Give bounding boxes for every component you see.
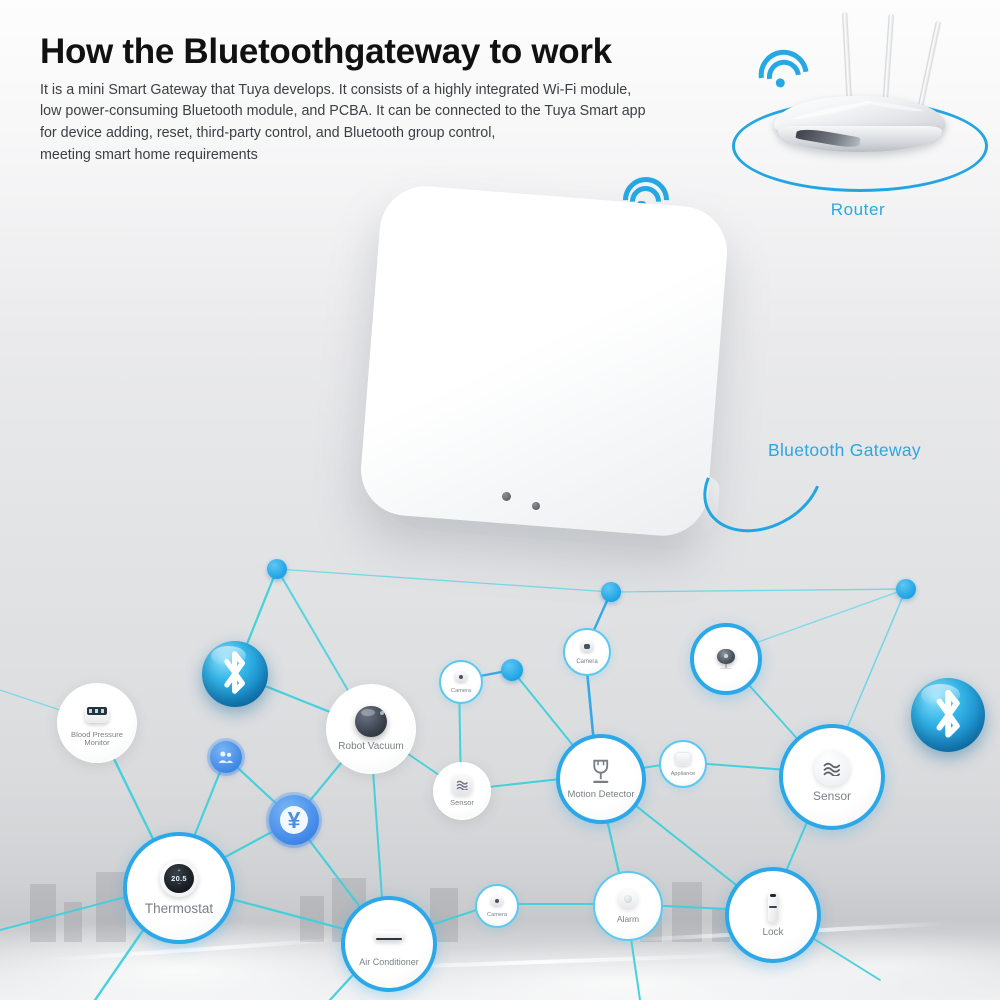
robot-vacuum-icon bbox=[355, 706, 387, 738]
device-node-lock[interactable]: Lock bbox=[725, 867, 821, 963]
device-node-label: Camera bbox=[487, 912, 507, 918]
group-badge[interactable] bbox=[210, 741, 242, 773]
sensor-flow-icon bbox=[452, 775, 472, 795]
camera-icon bbox=[579, 639, 595, 655]
device-node-label: Sensor bbox=[813, 790, 851, 803]
air-conditioner-icon bbox=[373, 921, 405, 953]
device-node-label: Motion Detector bbox=[567, 790, 634, 801]
device-node-camera[interactable]: Camera bbox=[475, 884, 519, 928]
device-node-air-conditioner[interactable]: Air Conditioner bbox=[341, 896, 437, 992]
device-node-blood-pressure-monitor[interactable]: Blood PressureMonitor bbox=[57, 683, 137, 763]
device-node-label: Air Conditioner bbox=[359, 957, 419, 967]
device-node-label: Alarm bbox=[617, 915, 639, 925]
device-node-label: Camera bbox=[451, 688, 471, 694]
device-node-fan[interactable] bbox=[690, 623, 762, 695]
device-node-sensor[interactable]: Sensor bbox=[433, 762, 491, 820]
device-node-appliance[interactable]: Appliance bbox=[659, 740, 707, 788]
infographic-canvas: How the Bluetoothgateway to work It is a… bbox=[0, 0, 1000, 1000]
network-connector-dot bbox=[267, 559, 287, 579]
appliance-icon bbox=[675, 751, 691, 767]
network-connector-dot bbox=[601, 582, 621, 602]
people-icon bbox=[217, 749, 235, 765]
bluetooth-icon bbox=[214, 646, 255, 702]
device-node-sensor[interactable]: Sensor bbox=[779, 724, 885, 830]
device-node-label: Sensor bbox=[450, 799, 474, 807]
network-connector-dot bbox=[896, 579, 916, 599]
device-node-label: Thermostat bbox=[145, 901, 213, 916]
device-node-robot-vacuum[interactable]: Robot Vacuum bbox=[326, 684, 416, 774]
device-node-alarm[interactable]: Alarm bbox=[593, 871, 663, 941]
alarm-icon bbox=[616, 887, 640, 911]
device-node-label: Blood PressureMonitor bbox=[71, 731, 123, 748]
device-node-camera[interactable]: Camera bbox=[439, 660, 483, 704]
device-node-thermostat[interactable]: + 20.5 −Thermostat bbox=[123, 832, 235, 944]
device-node-label: Lock bbox=[762, 927, 783, 938]
sensor-wave-icon bbox=[814, 751, 849, 786]
network-edge bbox=[277, 569, 611, 592]
device-node-camera[interactable]: Camera bbox=[563, 628, 611, 676]
device-node-label: Appliance bbox=[671, 771, 696, 777]
currency-badge[interactable]: ¥ bbox=[269, 795, 319, 845]
bluetooth-icon bbox=[925, 684, 971, 747]
device-node-label: Robot Vacuum bbox=[338, 741, 403, 752]
bluetooth-logo-left bbox=[202, 641, 268, 707]
thermostat-icon: + 20.5 − bbox=[160, 860, 197, 897]
bluetooth-logo-right bbox=[911, 678, 985, 752]
device-node-motion-detector[interactable]: Motion Detector bbox=[556, 734, 646, 824]
camera-icon bbox=[490, 894, 504, 908]
blood-pressure-monitor-icon bbox=[83, 698, 111, 726]
fan-icon bbox=[714, 647, 737, 670]
network-connector-dot bbox=[501, 659, 523, 681]
camera-icon bbox=[454, 670, 468, 684]
device-node-label: Camera bbox=[576, 659, 597, 666]
lock-icon bbox=[757, 892, 789, 924]
motion-detector-icon bbox=[586, 757, 616, 787]
network-edge bbox=[611, 589, 906, 592]
